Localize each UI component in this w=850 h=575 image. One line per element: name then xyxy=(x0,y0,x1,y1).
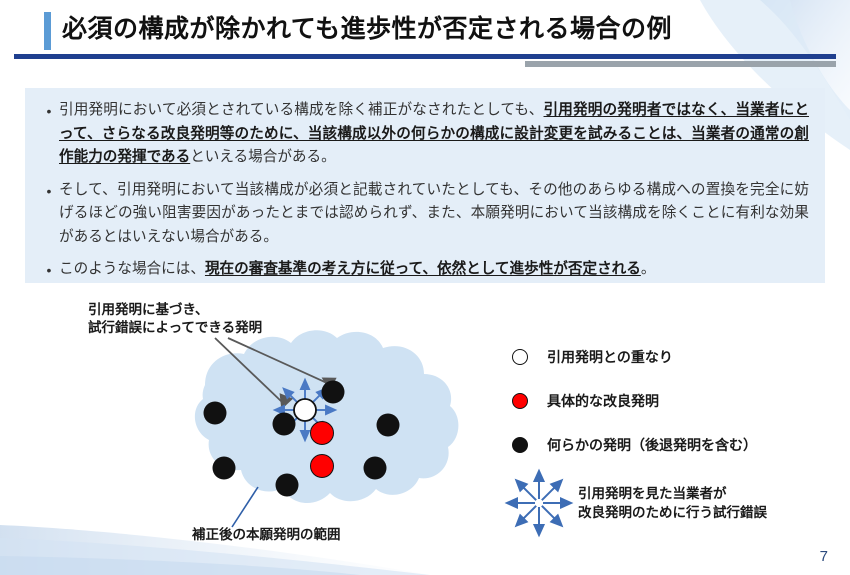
black-dot-1 xyxy=(204,402,227,425)
bullet-text-3: このような場合には、現在の審査基準の考え方に従って、依然として進歩性が否定される… xyxy=(59,258,809,282)
title-accent-bar xyxy=(44,12,51,50)
legend-item-overlap: 引用発明との重なり xyxy=(505,335,845,379)
open-dot xyxy=(294,399,316,421)
bullet-item-1: • 引用発明において必須とされている構成を除く補正がなされたとしても、引用発明の… xyxy=(39,99,809,170)
bullet-item-2: • そして、引用発明において当該構成が必須と記載されていたとしても、その他のあら… xyxy=(39,179,809,250)
legend-label-improvement: 具体的な改良発明 xyxy=(535,391,659,411)
legend-label-overlap: 引用発明との重なり xyxy=(535,347,673,367)
red-dot-2 xyxy=(311,455,334,478)
black-dot-5 xyxy=(213,457,236,480)
diagram-area: 引用発明に基づき、 試行錯誤によってできる発明 補正後の本願発明の範囲 xyxy=(0,283,850,575)
legend-item-any-invention: 何らかの発明（後退発明を含む） xyxy=(505,423,845,467)
open-circle-icon xyxy=(505,349,535,365)
legend-label-any-invention: 何らかの発明（後退発明を含む） xyxy=(535,435,757,455)
bullet-run-emphasis: 現在の審査基準の考え方に従って、依然として進歩性が否定される xyxy=(205,261,641,277)
bullet-run-plain: このような場合には、 xyxy=(59,261,205,277)
legend-item-trial-and-error: 引用発明を見た当業者が 改良発明のために行う試行錯誤 xyxy=(500,468,850,538)
bullet-text-2: そして、引用発明において当該構成が必須と記載されていたとしても、その他のあらゆる… xyxy=(59,179,809,250)
title-block: 必須の構成が除かれても進歩性が否定される場合の例 xyxy=(0,0,850,78)
title-rule-primary xyxy=(14,54,836,59)
red-dot-1 xyxy=(311,422,334,445)
bullet-run-plain: 引用発明において必須とされている構成を除く補正がなされたとしても、 xyxy=(59,102,544,118)
black-dot-7 xyxy=(364,457,387,480)
black-dot-3 xyxy=(322,381,345,404)
slide-root: 必須の構成が除かれても進歩性が否定される場合の例 • 引用発明において必須とされ… xyxy=(0,0,850,575)
black-dot-4 xyxy=(377,414,400,437)
bullet-text-1: 引用発明において必須とされている構成を除く補正がなされたとしても、引用発明の発明… xyxy=(59,99,809,170)
legend-label-trial-and-error: 引用発明を見た当業者が 改良発明のために行う試行錯誤 xyxy=(578,484,767,522)
page-number: 7 xyxy=(820,548,828,565)
body-text-panel: • 引用発明において必須とされている構成を除く補正がなされたとしても、引用発明の… xyxy=(25,88,825,283)
bullet-item-3: • このような場合には、現在の審査基準の考え方に従って、依然として進歩性が否定さ… xyxy=(39,258,809,282)
legend-item-improvement: 具体的な改良発明 xyxy=(505,379,845,423)
cloud-diagram xyxy=(0,283,520,575)
black-circle-icon xyxy=(505,437,535,453)
red-circle-icon xyxy=(505,393,535,409)
bullet-marker: • xyxy=(39,258,59,282)
bullet-marker: • xyxy=(39,179,59,203)
legend: 引用発明との重なり 具体的な改良発明 何らかの発明（後退発明を含む） xyxy=(505,335,845,467)
page-title: 必須の構成が除かれても進歩性が否定される場合の例 xyxy=(62,9,672,45)
bullet-run-plain: そして、引用発明において当該構成が必須と記載されていたとしても、その他のあらゆる… xyxy=(59,182,809,245)
eight-way-arrow-icon xyxy=(500,468,578,538)
black-dot-6 xyxy=(276,474,299,497)
bullet-marker: • xyxy=(39,99,59,123)
leader-line-amended-scope xyxy=(232,487,258,527)
bullet-run-plain-tail: 。 xyxy=(641,261,656,277)
title-rule-secondary xyxy=(525,61,836,67)
bullet-run-plain-tail: といえる場合がある。 xyxy=(190,149,336,165)
black-dot-2 xyxy=(273,413,296,436)
